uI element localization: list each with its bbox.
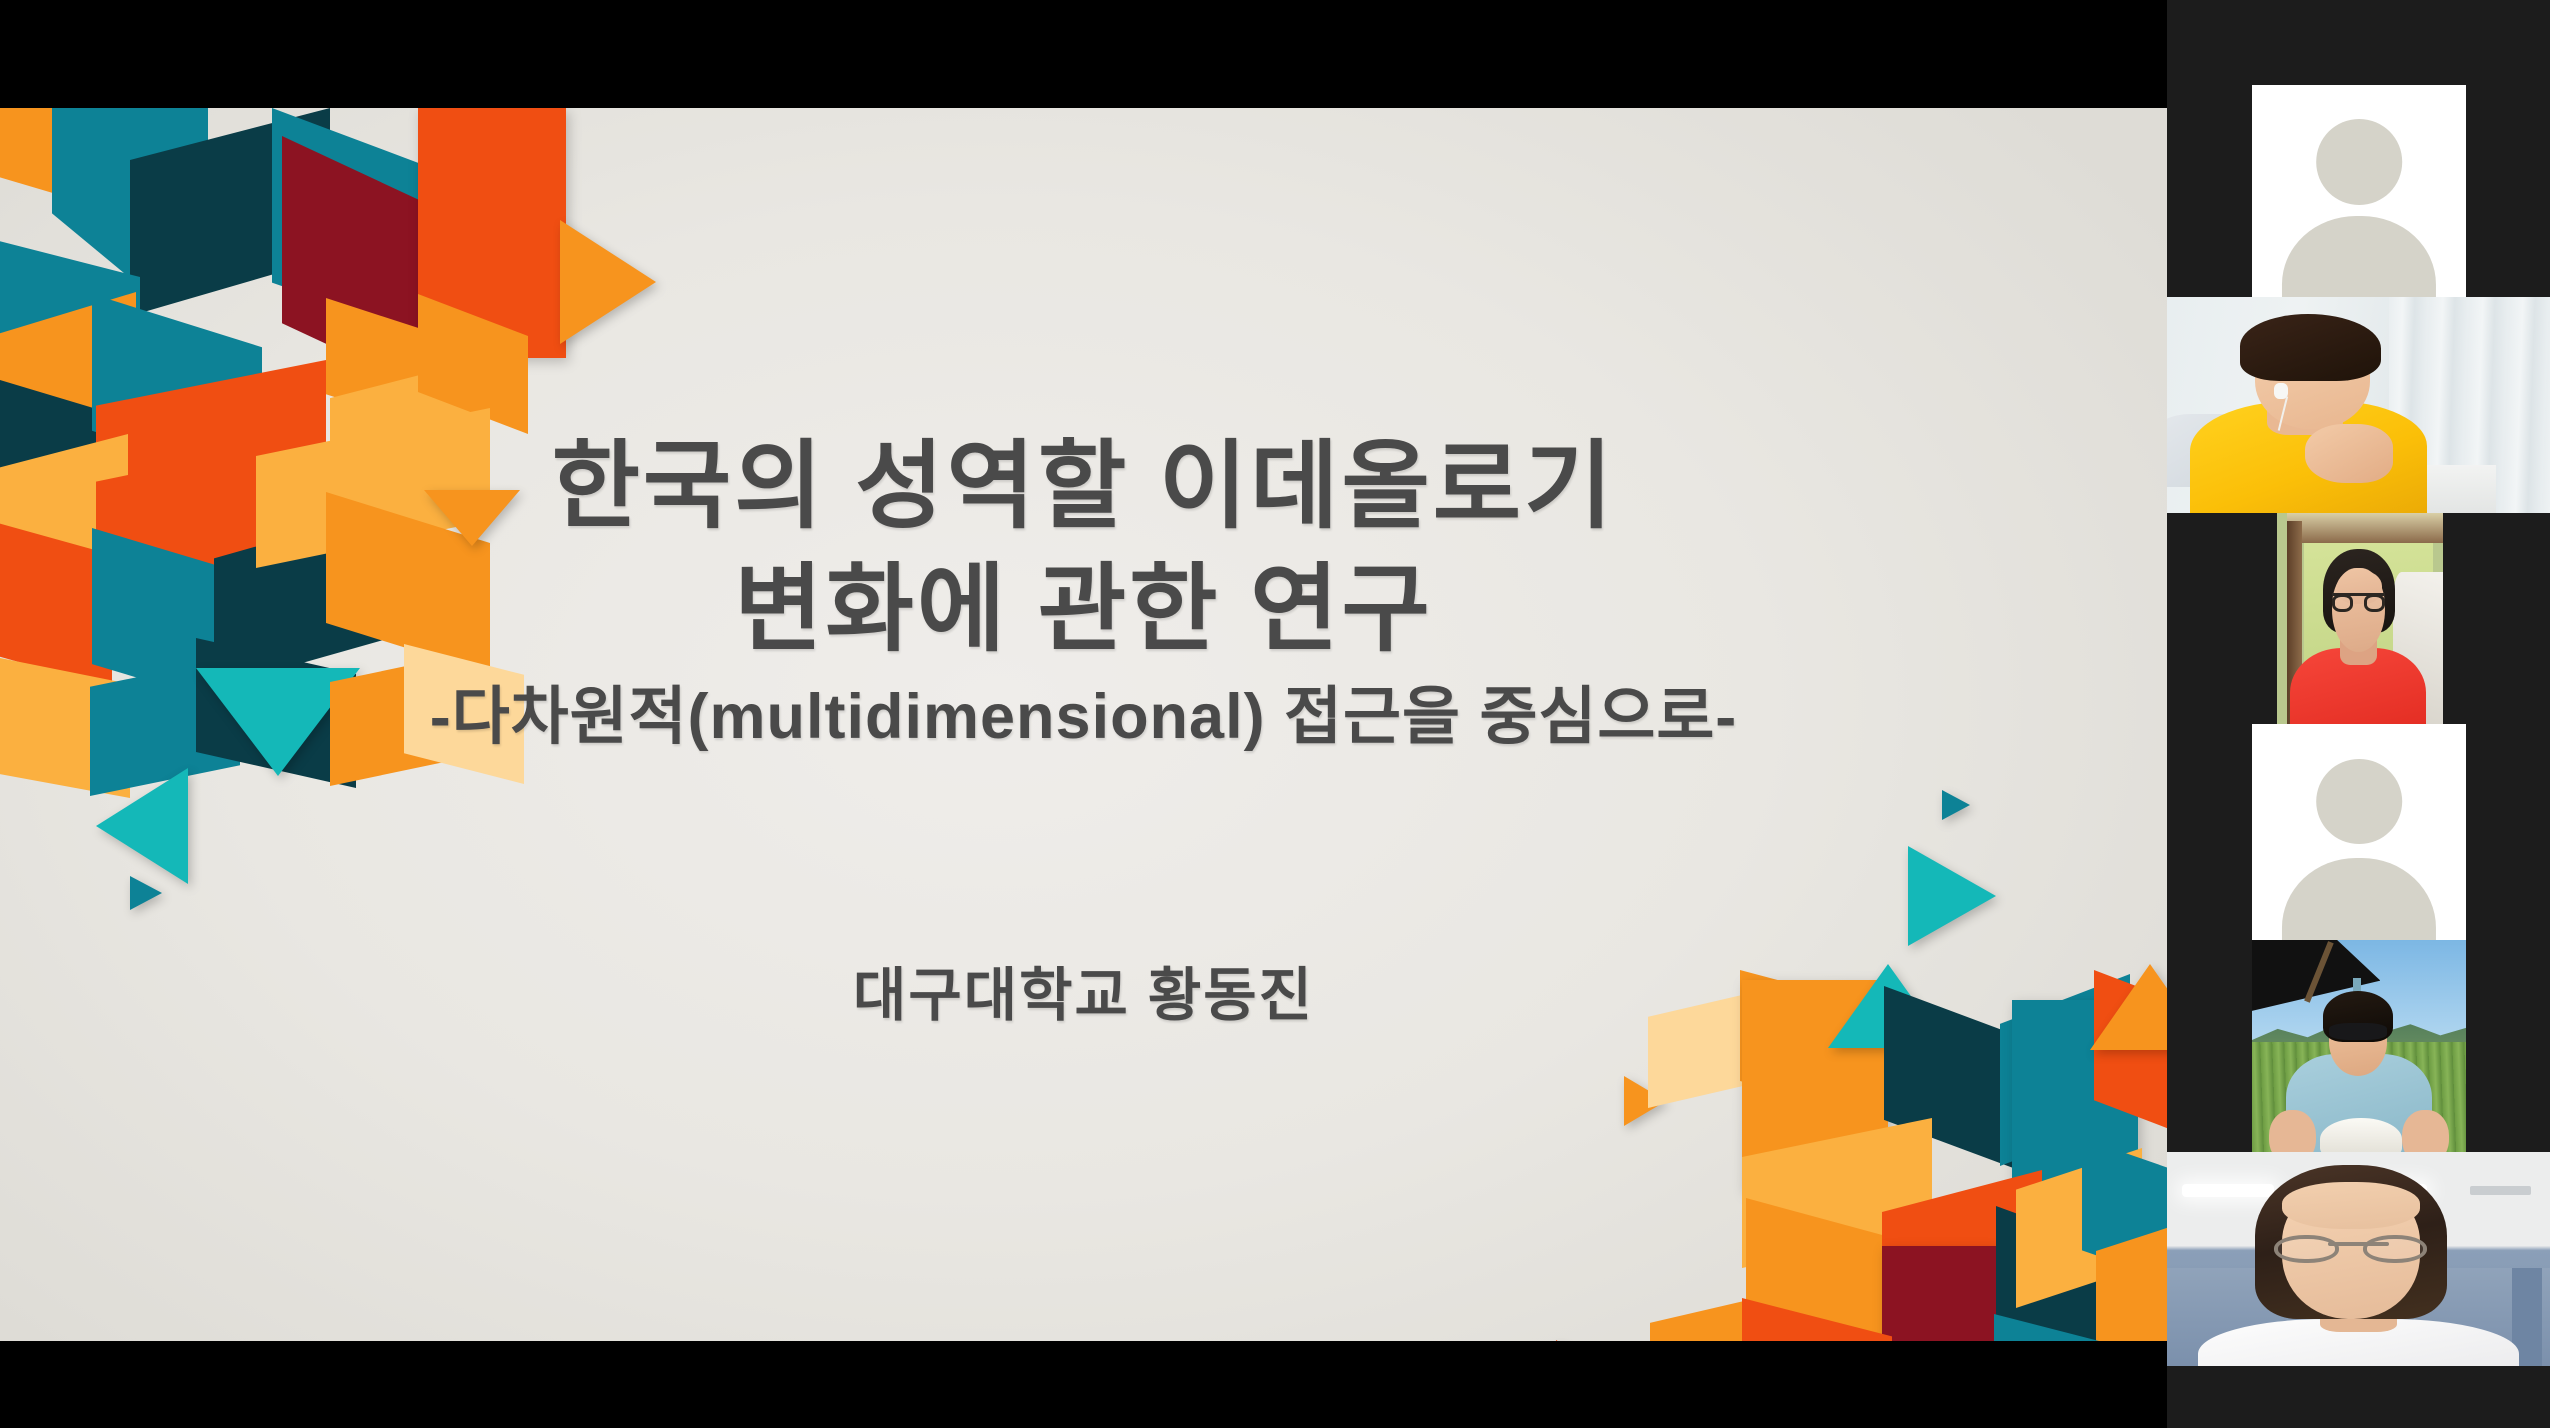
video-tile-participant-4[interactable]	[2252, 724, 2466, 940]
participant-3-video-frame	[2277, 513, 2443, 724]
avatar-head-icon	[2316, 119, 2402, 205]
decor-triangle-cyan-right	[1908, 846, 1996, 946]
avatar-body-icon	[2282, 858, 2436, 940]
video-tile-participant-6[interactable]	[2167, 1152, 2550, 1366]
participant-filmstrip[interactable]	[2167, 0, 2550, 1428]
slide-subtitle: -다차원적(multidimensional) 접근을 중심으로-	[0, 666, 2167, 757]
video-tile-participant-2[interactable]	[2167, 297, 2550, 513]
participant-6-video-frame	[2167, 1152, 2550, 1366]
slide-title-line-2: 변화에 관한 연구	[0, 531, 2167, 670]
slide-presenter: 대구대학교 황동진	[0, 948, 2167, 1032]
participant-5-video-frame	[2252, 940, 2466, 1152]
avatar-body-icon	[2282, 216, 2436, 297]
avatar-head-icon	[2316, 759, 2402, 845]
decor-triangle-orangered-low	[1556, 1340, 1630, 1341]
decor-triangle-teal-small-right	[1942, 790, 1970, 820]
video-tile-participant-3[interactable]	[2277, 513, 2443, 724]
slide-title-line-1: 한국의 성역할 이데올로기	[0, 408, 2167, 547]
video-tile-participant-5[interactable]	[2252, 940, 2466, 1152]
participant-2-video-frame	[2167, 297, 2550, 513]
video-tile-participant-1[interactable]	[2252, 85, 2466, 297]
decor-triangle-teal-small-left	[130, 876, 162, 910]
decor-triangle-cyan-left	[96, 768, 188, 884]
shared-screen-slide[interactable]: 한국의 성역할 이데올로기 변화에 관한 연구 -다차원적(multidimen…	[0, 108, 2167, 1341]
